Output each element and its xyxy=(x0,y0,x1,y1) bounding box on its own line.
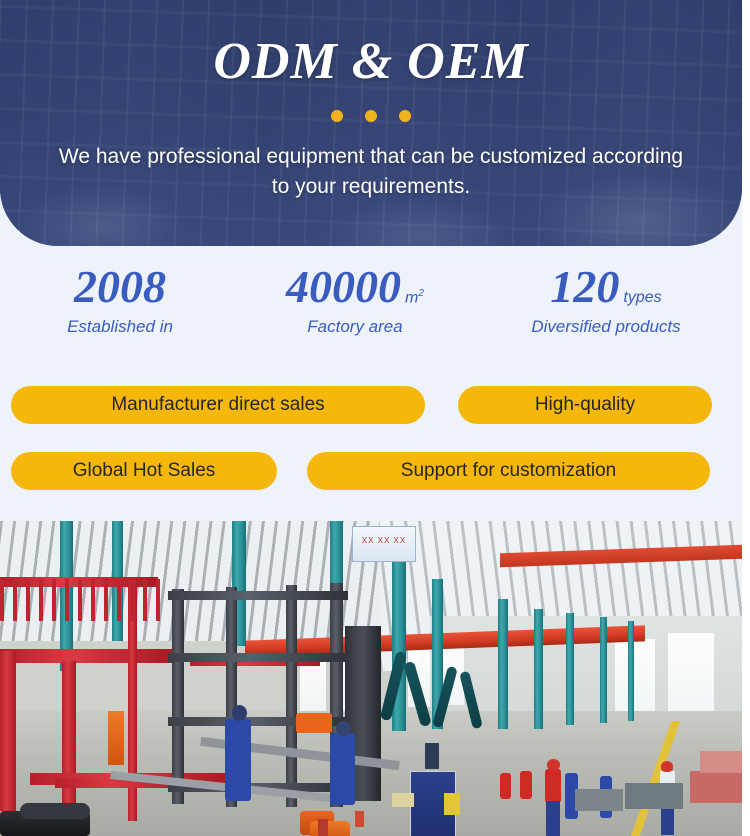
orange-part xyxy=(108,711,124,765)
tag-support-for-customization[interactable]: Support for customization xyxy=(307,452,710,490)
feature-tags: Manufacturer direct sales High-quality G… xyxy=(0,386,742,518)
distant-equipment xyxy=(700,751,742,773)
steel-column xyxy=(628,621,634,721)
worker-legs xyxy=(546,801,560,836)
red-steel-frame xyxy=(0,651,16,811)
stat-label: Established in xyxy=(0,316,240,338)
gas-cylinder xyxy=(318,819,328,836)
tag-manufacturer-direct-sales[interactable]: Manufacturer direct sales xyxy=(11,386,425,424)
hanging-banner: XX XX XX xyxy=(352,526,416,562)
dot-separator xyxy=(0,110,742,122)
stat-number: 2008 xyxy=(74,262,166,312)
worker xyxy=(545,769,561,803)
orange-part xyxy=(296,713,332,733)
tag-row-2: Global Hot Sales Support for customizati… xyxy=(0,452,742,490)
steel-pipes xyxy=(20,803,90,819)
steel-column xyxy=(600,617,607,723)
worker-helmet xyxy=(547,759,560,770)
page-right-margin xyxy=(742,0,750,836)
stat-value-group: 2008 xyxy=(0,262,240,312)
stat-factory-area: 40000 m2 Factory area xyxy=(240,262,470,362)
worker xyxy=(425,743,439,769)
stat-label: Diversified products xyxy=(470,316,742,338)
hero-banner: ODM & OEM We have professional equipment… xyxy=(0,0,742,246)
steel-rack-beam xyxy=(168,653,348,662)
hero-subtitle: We have professional equipment that can … xyxy=(55,142,687,202)
dot-icon xyxy=(399,110,411,122)
worker xyxy=(225,719,251,801)
stat-unit-text: m xyxy=(405,289,418,306)
worker-helmet xyxy=(661,761,673,772)
stat-label: Factory area xyxy=(240,316,470,338)
toolbox xyxy=(444,793,460,815)
stat-value-group: 120 types xyxy=(470,262,742,312)
worker xyxy=(520,771,532,799)
company-profile-page: ODM & OEM We have professional equipment… xyxy=(0,0,750,836)
pallet xyxy=(392,793,414,807)
window xyxy=(668,633,714,719)
steel-column xyxy=(566,613,574,725)
tag-high-quality[interactable]: High-quality xyxy=(458,386,712,424)
stat-established: 2008 Established in xyxy=(0,262,240,362)
stats-row: 2008 Established in 40000 m2 Factory are… xyxy=(0,262,742,362)
stat-number: 120 xyxy=(550,262,619,312)
work-bench xyxy=(625,783,683,809)
distant-equipment xyxy=(690,771,742,803)
work-bench xyxy=(575,789,623,811)
stat-number: 40000 xyxy=(286,262,401,312)
factory-photo: XX XX XX xyxy=(0,521,742,836)
worker xyxy=(500,773,511,799)
steel-column xyxy=(498,599,508,729)
tag-row-1: Manufacturer direct sales High-quality xyxy=(0,386,742,424)
stat-unit: m2 xyxy=(405,284,424,308)
orange-machine xyxy=(310,821,350,836)
stat-value-group: 40000 m2 xyxy=(240,262,470,312)
window xyxy=(615,639,655,719)
tag-global-hot-sales[interactable]: Global Hot Sales xyxy=(11,452,277,490)
worker-head xyxy=(336,721,351,736)
dot-icon xyxy=(365,110,377,122)
page-title: ODM & OEM xyxy=(0,33,742,91)
banner-text: XX XX XX xyxy=(353,536,415,545)
worker-head xyxy=(232,705,247,721)
gas-cylinder xyxy=(355,811,364,827)
stat-unit-superscript: 2 xyxy=(418,288,424,299)
red-railing xyxy=(0,579,160,621)
steel-rack-post xyxy=(286,585,297,807)
stat-products: 120 types Diversified products xyxy=(470,262,742,362)
steel-rack-post xyxy=(172,589,184,804)
red-steel-frame xyxy=(0,649,175,663)
stat-unit: types xyxy=(623,288,661,308)
steel-column xyxy=(534,609,543,729)
steel-rack-beam xyxy=(168,591,348,600)
hero-content: ODM & OEM We have professional equipment… xyxy=(0,0,742,246)
worker xyxy=(330,733,355,805)
dot-icon xyxy=(331,110,343,122)
